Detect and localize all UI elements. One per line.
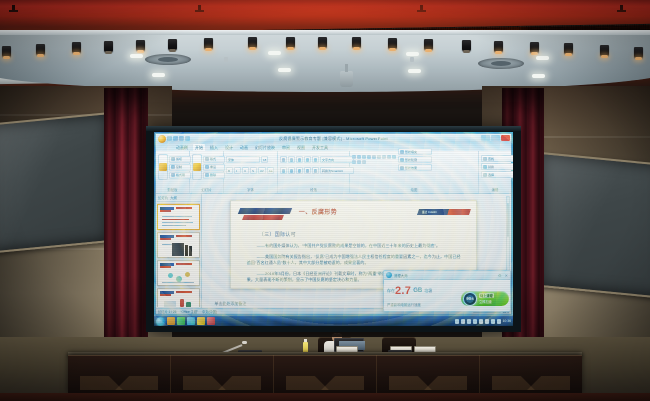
taskbar-icon[interactable] xyxy=(187,317,195,325)
speed-gauge: 90s xyxy=(463,292,477,306)
copy-icon xyxy=(171,165,175,169)
ceiling-downlight xyxy=(152,73,165,77)
line-spacing-icon xyxy=(314,158,317,162)
scrollbar-thumb[interactable] xyxy=(507,203,509,237)
new-slide-button[interactable] xyxy=(192,154,202,180)
ceiling-spotlight xyxy=(318,37,327,48)
indent-right-icon xyxy=(306,158,309,162)
align-right-button[interactable] xyxy=(296,167,303,174)
podium-desk xyxy=(68,355,582,395)
ribbon-group-label: 幻灯片 xyxy=(190,187,223,193)
language-indicator[interactable]: 中文(中国) xyxy=(202,309,217,314)
slide-thumbnail[interactable] xyxy=(157,288,200,307)
ceiling-sensor xyxy=(410,57,414,62)
windows-taskbar[interactable]: 10:36 xyxy=(154,315,513,326)
underline-button[interactable]: U xyxy=(242,167,249,174)
font-family-select[interactable]: 宋体 xyxy=(226,156,260,163)
taskbar-icon[interactable] xyxy=(167,317,175,325)
shape-outline-button[interactable]: 形状轮廓 xyxy=(398,156,432,163)
reset-icon xyxy=(205,165,209,169)
find-button[interactable]: 查找 xyxy=(481,155,513,162)
shape-curve-icon xyxy=(362,160,366,164)
window-controls[interactable] xyxy=(481,135,510,141)
window-title-text: 反腐倡廉警示教育专题 [兼容模式] - Microsoft PowerPoint xyxy=(156,136,511,142)
align-right-icon xyxy=(298,169,301,173)
tray-icon[interactable] xyxy=(461,319,465,324)
podium-panel xyxy=(377,355,480,395)
gear-icon[interactable]: ⚙ xyxy=(498,273,502,278)
slide-thumbnail[interactable] xyxy=(157,232,200,258)
search-icon xyxy=(483,157,487,161)
cut-button[interactable]: 剪切 xyxy=(169,156,191,163)
ribbon-group-slides: 版式 重设 删除 幻灯片 xyxy=(190,151,224,193)
slide-title: 一、反腐形势 xyxy=(299,207,337,216)
ceiling-spotlight xyxy=(424,39,433,50)
app-logo-icon xyxy=(386,272,392,278)
tab-review[interactable]: 审阅 xyxy=(280,144,292,151)
notification-app-name: 清理大师 xyxy=(394,273,408,278)
font-size-select[interactable]: 18 xyxy=(261,156,268,163)
ceiling-spotlight xyxy=(2,46,11,57)
thumbnail-list[interactable] xyxy=(157,202,200,307)
podium-panel xyxy=(480,355,582,395)
ceiling-sensor xyxy=(224,57,228,62)
ceiling-downlight xyxy=(536,56,549,60)
ribbon-group-editing: 查找 替换 选择 编辑 xyxy=(479,151,511,193)
shape-arrow-icon xyxy=(362,155,366,159)
reset-button[interactable]: 重设 xyxy=(203,164,225,171)
shape-callout-icon xyxy=(382,155,386,159)
columns-button[interactable] xyxy=(312,167,319,174)
ribbon-group-label: 剪贴板 xyxy=(156,187,189,193)
tray-icon[interactable] xyxy=(467,319,471,324)
right-wall-board xyxy=(540,152,650,299)
tray-icon[interactable] xyxy=(491,319,495,324)
layout-icon xyxy=(205,157,209,161)
ceiling-downlight xyxy=(406,52,419,56)
junk-size-unit: GB xyxy=(411,288,424,294)
tab-outline[interactable]: 大纲 xyxy=(170,195,177,200)
tray-icon[interactable] xyxy=(485,319,489,324)
justify-button[interactable] xyxy=(304,167,311,174)
bullets-button[interactable] xyxy=(280,156,287,163)
ribbon-group-label: 段落 xyxy=(278,187,349,193)
maximize-button[interactable] xyxy=(491,135,500,141)
shapes-gallery[interactable] xyxy=(352,155,396,164)
podium-panel xyxy=(68,355,171,395)
align-left-icon xyxy=(282,169,285,173)
slide-thumbnails-pane[interactable]: 幻灯片 大纲 xyxy=(156,194,202,308)
ceiling-downlight xyxy=(278,68,291,72)
replace-icon xyxy=(483,165,487,169)
outline-pen-icon xyxy=(400,158,404,162)
notification-actions[interactable]: ⚙ ✕ xyxy=(498,273,508,278)
notes-placeholder[interactable]: 单击此处添加备注 xyxy=(214,301,246,307)
ceiling-projector xyxy=(340,71,353,87)
shape-star-icon xyxy=(377,155,381,159)
columns-icon xyxy=(314,169,317,173)
change-case-button[interactable]: Aa xyxy=(267,167,275,174)
ceiling-lip xyxy=(0,30,650,35)
theme-name[interactable]: “Office 主题” xyxy=(180,309,198,314)
ribbon-group-drawing: 形状填充 形状轮廓 形状效果 绘图 xyxy=(350,151,479,193)
ribbon-group-label: 编辑 xyxy=(479,187,511,193)
tab-design[interactable]: 设计 xyxy=(223,144,235,151)
ribbon[interactable]: 剪切 复制 格式刷 剪贴板 版式 xyxy=(156,151,511,194)
shape-cyl-icon xyxy=(352,160,356,164)
align-center-button[interactable] xyxy=(288,167,295,174)
ceiling-air-vent xyxy=(478,58,524,69)
ceiling-spotlight xyxy=(286,37,295,48)
align-justify-icon xyxy=(306,169,309,173)
podium-panel xyxy=(171,355,274,395)
numbered-list-icon xyxy=(290,158,293,162)
ribbon-group-clipboard: 剪切 复制 格式刷 剪贴板 xyxy=(156,151,190,193)
tray-icon[interactable] xyxy=(455,319,459,324)
ceiling-downlight xyxy=(532,74,545,78)
ceiling-downlight xyxy=(130,54,143,58)
brush-icon xyxy=(171,173,175,177)
ribbon-group-paragraph: 文字方向 转换为SmartArt 段落 xyxy=(278,151,350,193)
convert-to-smartart-button[interactable]: 转换为SmartArt xyxy=(320,167,354,174)
junk-size-value: 2.7 xyxy=(395,286,411,297)
ceiling-spotlight xyxy=(168,39,177,50)
format-painter-button[interactable]: 格式刷 xyxy=(169,172,191,179)
ceiling-spotlight xyxy=(634,47,643,58)
shape-banner-icon xyxy=(387,155,391,159)
slide-thumbnail[interactable] xyxy=(157,204,200,230)
junk-suffix: 垃圾 xyxy=(424,288,432,294)
notification-header: 清理大师 ⚙ ✕ xyxy=(384,271,510,280)
ceiling-spotlight xyxy=(136,40,145,51)
tray-icon[interactable] xyxy=(479,319,483,324)
close-icon[interactable]: ✕ xyxy=(505,273,508,278)
cleanup-notification[interactable]: 清理大师 ⚙ ✕ 存在 2.7 GB 垃圾 严重影响电脑运行速度 xyxy=(383,270,511,312)
slide-paragraph: ——美国国务院有关报告指出，“反腐”已成为中国增强法人民主权信任程度的重要因素之… xyxy=(237,254,470,266)
tab-home[interactable]: 开始 xyxy=(193,144,205,151)
new-slide-icon xyxy=(193,163,201,171)
effects-icon xyxy=(400,166,404,170)
shape-effects-button[interactable]: 形状效果 xyxy=(398,164,432,171)
slide-thumbnail[interactable] xyxy=(157,260,200,286)
tab-developer[interactable]: 开发工具 xyxy=(310,144,330,151)
presenter-hair xyxy=(332,333,342,337)
shape-flow-icon xyxy=(357,160,361,164)
ribbon-group-label: 字体 xyxy=(224,187,277,193)
select-button[interactable]: 选择 xyxy=(481,171,513,178)
tray-icon[interactable] xyxy=(473,319,477,324)
clean-now-button[interactable]: 90s 马上清理 立即加速 xyxy=(461,291,509,306)
ceiling-spotlight xyxy=(104,41,113,52)
ceiling-air-vent xyxy=(145,54,191,65)
junk-prefix: 存在 xyxy=(387,288,395,294)
window-title-bar: 反腐倡廉警示教育专题 [兼容模式] - Microsoft PowerPoint xyxy=(156,134,511,143)
taskbar-icon[interactable] xyxy=(197,317,205,325)
line-spacing-button[interactable] xyxy=(312,156,319,163)
shape-triangle-icon xyxy=(372,155,376,159)
photo-scene: 新员工入职暨党员双月培训班 xyxy=(0,0,650,401)
pill-labels: 马上清理 立即加速 xyxy=(479,293,494,304)
layout-button[interactable]: 版式 xyxy=(203,156,225,163)
delete-slide-button[interactable]: 删除 xyxy=(203,172,225,179)
slide-decor-banner-blue xyxy=(238,208,292,214)
ceiling-spotlight xyxy=(248,37,257,48)
fill-bucket-icon xyxy=(400,150,404,154)
ceiling-spotlight xyxy=(564,43,573,54)
taskbar-icon[interactable] xyxy=(207,317,215,325)
ceiling-spotlight xyxy=(72,42,81,53)
char-spacing-button[interactable]: AV xyxy=(258,167,266,174)
tab-slideshow[interactable]: 幻灯片放映 xyxy=(253,144,277,151)
ceiling-downlight xyxy=(408,69,421,73)
projection-screen-frame: 反腐倡廉警示教育专题 [兼容模式] - Microsoft PowerPoint… xyxy=(146,126,521,332)
replace-button[interactable]: 替换 xyxy=(481,163,513,170)
slide-paragraph: ——有的国外媒体认为，“中国共产党反腐败的成果是空前的，在中国近三十年来的历史上… xyxy=(237,243,470,249)
ceiling-spotlight xyxy=(204,38,213,49)
left-wall-board xyxy=(0,112,110,254)
shape-fill-button[interactable]: 形状填充 xyxy=(398,148,432,155)
pill-badge-secondary: 立即加速 xyxy=(479,299,494,304)
thumbnails-pane-tabs[interactable]: 幻灯片 大纲 xyxy=(157,195,200,202)
ceiling-spotlight xyxy=(388,38,397,49)
slide-header: 一、反腐形势 廉洁 CLEAN xyxy=(237,206,470,223)
minimize-button[interactable] xyxy=(481,135,490,141)
ceiling-spotlight xyxy=(352,37,361,48)
tray-icon[interactable] xyxy=(497,319,501,324)
tab-insert[interactable]: 插入 xyxy=(208,144,220,151)
taskbar-clock[interactable]: 10:36 xyxy=(503,319,512,323)
ceiling-spotlight xyxy=(530,42,539,53)
microphone-capsule xyxy=(242,341,247,344)
align-left-button[interactable] xyxy=(280,167,287,174)
projection-screen: 反腐倡廉警示教育专题 [兼容模式] - Microsoft PowerPoint… xyxy=(154,132,513,326)
paste-icon xyxy=(159,163,167,171)
tab-animation[interactable]: 动画 xyxy=(238,144,250,151)
decrease-indent-button[interactable] xyxy=(296,156,303,163)
numbering-button[interactable] xyxy=(288,156,295,163)
slide-subheading: （三）国际认可 xyxy=(237,231,470,238)
ceiling-spotlight xyxy=(494,41,503,52)
delete-icon xyxy=(205,173,209,177)
ribbon-tabs[interactable]: 动画刷 开始 插入 设计 动画 幻灯片放映 审阅 视图 开发工具 xyxy=(156,143,511,151)
system-tray[interactable]: 10:36 xyxy=(455,319,512,324)
slide-logo-strip: 廉洁 CLEAN xyxy=(417,209,471,215)
copy-button[interactable]: 复制 xyxy=(169,164,191,171)
ribbon-group-label: 绘图 xyxy=(350,187,478,193)
slide-indicator: 幻灯片 1 / 25 xyxy=(158,309,176,314)
stage-floor xyxy=(0,393,650,401)
scissors-icon xyxy=(171,157,175,161)
select-icon xyxy=(483,173,487,177)
bullet-list-icon xyxy=(282,158,285,162)
slide-logo-text: 廉洁 CLEAN xyxy=(418,210,437,214)
ceiling-spotlight xyxy=(462,40,471,51)
ceiling-spotlight xyxy=(600,45,609,56)
align-center-icon xyxy=(290,169,293,173)
tab-view[interactable]: 视图 xyxy=(295,144,307,151)
shape-line-icon xyxy=(357,155,361,159)
start-button[interactable] xyxy=(156,317,165,326)
text-direction-button[interactable]: 文字方向 xyxy=(320,156,354,163)
slide-decor-banner-red xyxy=(242,215,284,220)
shape-oval-icon xyxy=(367,155,371,159)
shape-cube-icon xyxy=(392,155,396,159)
tab-slides[interactable]: 幻灯片 xyxy=(158,195,168,200)
ribbon-group-font: 宋体 18 B I U S AV Aa 字体 xyxy=(224,151,278,193)
indent-left-icon xyxy=(298,158,301,162)
screen-top-roller xyxy=(146,126,521,131)
tab-animation-brush[interactable]: 动画刷 xyxy=(174,144,190,151)
podium-panel xyxy=(274,355,377,395)
ceiling-spotlight xyxy=(36,44,45,55)
shape-rect-icon xyxy=(352,155,356,159)
paste-button[interactable] xyxy=(158,154,168,180)
increase-indent-button[interactable] xyxy=(304,156,311,163)
pill-badge-primary: 马上清理 xyxy=(479,293,494,298)
ceiling-downlight xyxy=(268,51,281,55)
shadow-button[interactable]: S xyxy=(250,167,257,174)
windows-desktop: 反腐倡廉警示教育专题 [兼容模式] - Microsoft PowerPoint… xyxy=(154,132,513,326)
taskbar-icon[interactable] xyxy=(177,317,185,325)
bold-button[interactable]: B xyxy=(226,167,233,174)
close-button[interactable] xyxy=(501,135,510,141)
italic-button[interactable]: I xyxy=(234,167,241,174)
